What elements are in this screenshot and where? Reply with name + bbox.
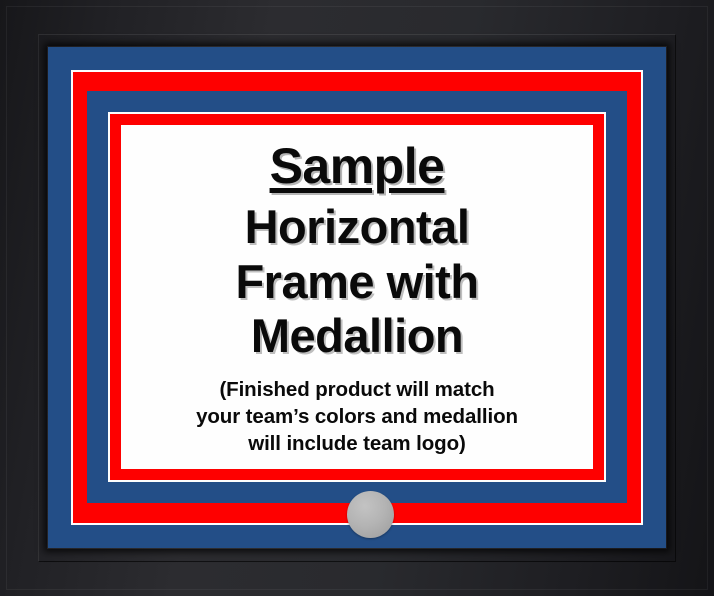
product-note-line-1: (Finished product will match xyxy=(196,376,518,403)
product-note-line-2: your team’s colors and medallion xyxy=(196,403,518,430)
team-medallion xyxy=(347,491,394,538)
mat-blue-inner: Sample Horizontal Frame with Medallion (… xyxy=(87,91,627,503)
sample-title: Sample xyxy=(270,141,445,191)
framed-picture-preview: Sample Horizontal Frame with Medallion (… xyxy=(0,0,714,596)
mat-red-pinstripe: Sample Horizontal Frame with Medallion (… xyxy=(71,70,643,525)
art-panel: Sample Horizontal Frame with Medallion (… xyxy=(121,125,593,469)
headline-line-2: Frame with xyxy=(235,255,478,310)
product-note: (Finished product will match your team’s… xyxy=(196,376,518,458)
headline-line-3: Medallion xyxy=(251,309,463,364)
mat-blue-outer: Sample Horizontal Frame with Medallion (… xyxy=(48,47,666,548)
product-note-line-3: will include team logo) xyxy=(196,430,518,457)
headline-line-1: Horizontal xyxy=(245,200,470,255)
mat-red-inner-band: Sample Horizontal Frame with Medallion (… xyxy=(108,112,606,482)
